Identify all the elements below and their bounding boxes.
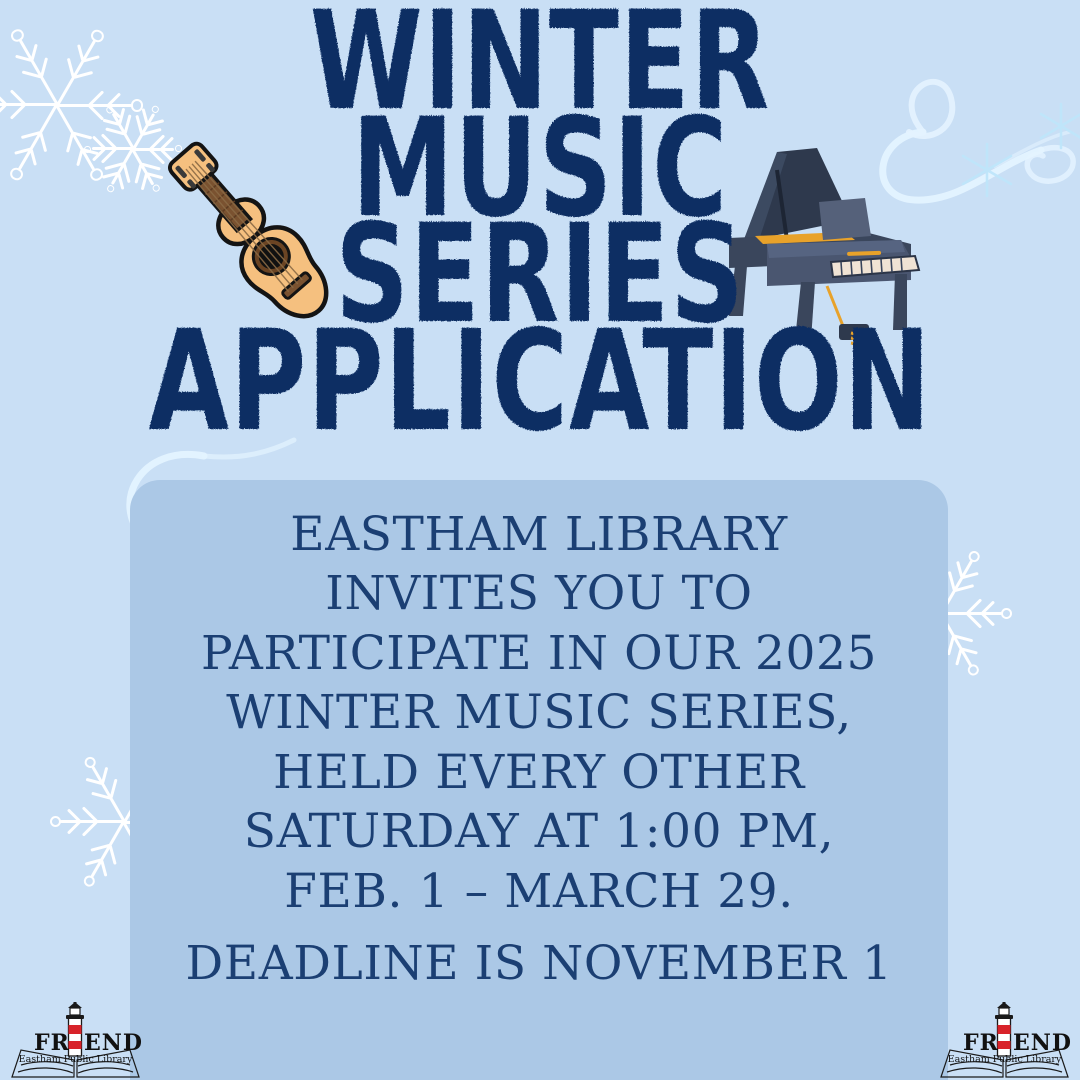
friends-eastham-public-library-logo-right: FR ENDS Eastham Public Library	[937, 1002, 1072, 1080]
logo-word-left: FR	[963, 1030, 999, 1056]
logo-subtitle: Eastham Public Library	[948, 1054, 1062, 1065]
page-title: WINTER MUSIC SERIES APPLICATION	[0, 8, 1080, 437]
body-line-5: HELD EVERY OTHER	[130, 743, 948, 802]
body-text: EASTHAM LIBRARY INVITES YOU TO PARTICIPA…	[130, 505, 948, 921]
logo-word-right: ENDS	[84, 1030, 143, 1056]
deadline-text: DEADLINE IS NOVEMBER 1	[130, 936, 948, 991]
logo-word-left: FR	[34, 1030, 70, 1056]
body-line-7: FEB. 1 – MARCH 29.	[130, 862, 948, 921]
friends-eastham-public-library-logo-left: FR ENDS Eastham Public Library	[8, 1002, 143, 1080]
body-line-3: PARTICIPATE IN OUR 2025	[130, 624, 948, 683]
logo-word-right: ENDS	[1013, 1030, 1072, 1056]
body-line-6: SATURDAY AT 1:00 PM,	[130, 802, 948, 861]
body-line-1: EASTHAM LIBRARY	[130, 505, 948, 564]
winter-music-series-flyer: WINTER MUSIC SERIES APPLICATION	[0, 0, 1080, 1080]
body-line-2: INVITES YOU TO	[130, 564, 948, 623]
title-line-application: APPLICATION	[38, 315, 1042, 450]
body-line-4: WINTER MUSIC SERIES,	[130, 683, 948, 742]
logo-subtitle: Eastham Public Library	[19, 1054, 133, 1065]
